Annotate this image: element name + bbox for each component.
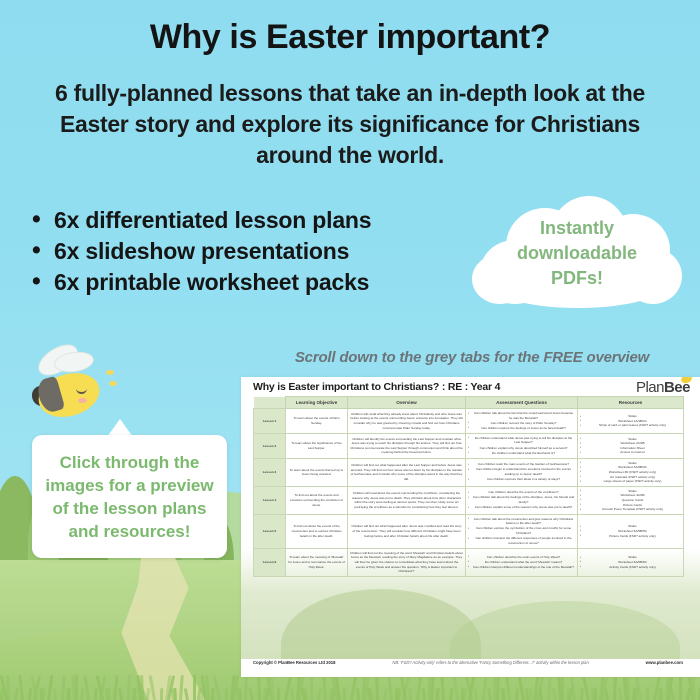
table-row: Lesson 4To find out about the events and… [254,486,684,514]
grass-blade [211,688,215,700]
grass-blade [83,675,89,700]
grass-blade [343,688,346,700]
resources-cell: SlidesWorksheet 4A/4BQuestion CardsPictu… [578,486,684,514]
assessment-question-item: Can children talk about the fact that th… [468,411,575,420]
grass-blade [356,688,360,700]
grass-blade [383,688,388,700]
grass-blade [193,675,196,700]
learning-objective-cell: To find out about the events and emotion… [286,486,348,514]
grass-blade [428,675,431,700]
grass-blade [460,688,463,700]
assessment-question-item: Do children understand what the word 'Me… [468,560,575,565]
grass-blade [449,688,453,700]
overview-cell: Children will identify the events surrou… [348,433,466,458]
grass-blade [113,675,119,700]
preview-callout[interactable]: Click through the images for a preview o… [32,435,227,558]
badge-line-1: Instantly [540,217,614,240]
lesson-number-cell: Lesson 4 [254,486,286,514]
logo-bee-icon [678,377,694,383]
resource-item: Activity Cards (FSD? activity only) [580,565,681,570]
resources-cell: SlidesWorksheet 2A/2BInformation SheetAc… [578,433,684,458]
assessment-question-item: Can children begin to understand the emo… [468,467,575,476]
grass-blade [679,675,682,700]
col-header-blank [254,397,286,409]
overview-cell: Children will find out the meaning of th… [348,548,466,576]
grass-blade [395,688,398,700]
instant-download-badge: Instantly downloadable PDFs! [472,192,682,314]
col-header-learning-objective: Learning Objective [286,397,348,409]
overview-cell: Children will recall what they already k… [348,409,466,434]
grass-blade [277,688,280,700]
overview-cell: Children will read about the events surr… [348,486,466,514]
grass-blade [387,675,393,700]
bee-sparkle [109,381,117,386]
promo-page: Why is Easter important? 6 fully-planned… [0,0,700,700]
list-item: 6x differentiated lesson plans [28,205,458,236]
assessment-question-item: Can children explain why Jesus described… [468,446,575,451]
lesson-number-cell: Lesson 6 [254,548,286,576]
bee-sparkle [106,370,114,375]
grass-blade [257,675,261,700]
grass-blade [317,688,322,700]
grass-blade [474,688,478,700]
learning-objective-cell: To learn about the events of Palm Sunday… [286,409,348,434]
feature-list: 6x differentiated lesson plans 6x slides… [28,205,458,298]
page-title: Why is Easter important? [0,18,700,57]
col-header-resources: Resources [578,397,684,409]
page-subtitle: 6 fully-planned lessons that take an in-… [24,78,676,171]
grass-blade [561,675,564,700]
resource-item: Access to internet [580,450,681,455]
grass-blade [329,688,333,700]
assessment-question-item: Can children explore the feelings of Jes… [468,426,575,431]
grass-blade [127,675,131,700]
grass-blade [160,688,163,700]
grass-blade [539,688,543,700]
assessment-question-item: Do children understand what the Eucharis… [468,451,575,456]
grass-blade [493,675,497,700]
document-footer: Copyright © PlanBee Resources Ltd 2018 N… [253,660,683,665]
footer-note: NB: 'FSD? Activity only' refers to the a… [392,660,588,665]
resource-item: Acrostic Poem Template (FSD? activity on… [580,507,681,512]
table-row: Lesson 5To find out about the events of … [254,514,684,548]
assessment-question-item: Can children interpret the different res… [468,536,575,545]
grass-blade [408,688,412,700]
resources-cell: SlidesWorksheet 5A/5B/5CPicture Cards (F… [578,514,684,548]
assessment-question-item: Can children talk about the resurrection… [468,517,575,526]
grass-blade [582,675,590,700]
assessment-question-item: Can children retell the main events of t… [468,462,575,467]
grass-blade [421,688,425,700]
assessment-question-item: Do children understand what Jesus was tr… [468,436,575,445]
assessment-questions-cell: Can children talk about the fact that th… [466,409,578,434]
grass-blade [18,675,24,700]
assessment-question-item: Can children recount the story of Palm S… [468,421,575,426]
grass-blade [375,675,379,700]
bee-icon [14,348,124,424]
grass-blade [670,688,675,700]
table-row: Lesson 2To learn about the significance … [254,433,684,458]
grass-blade [529,688,532,700]
grass-blade [146,688,150,700]
footer-copyright: Copyright © PlanBee Resources Ltd 2018 [253,660,335,665]
grass-blade [61,675,66,700]
learning-objective-cell: To learn about the meaning of 'Messiah' … [286,548,348,576]
table-header-row: Learning Objective Overview Assessment Q… [254,397,684,409]
grass-blade [183,688,188,700]
assessment-question-item: Can children describe the events of the … [468,490,575,495]
grass-blade [322,675,327,700]
badge-line-3: PDFs! [551,267,603,290]
learning-objective-cell: To learn about the events that led up to… [286,458,348,486]
grass-blade [547,675,552,700]
grass-blade [440,675,445,700]
col-header-assessment-questions: Assessment Questions [466,397,578,409]
lesson-number-cell: Lesson 3 [254,458,286,486]
badge-text: Instantly downloadable PDFs! [472,192,682,314]
callout-text: Click through the images for a preview o… [42,451,217,543]
assessment-questions-cell: Can children retell the main events of t… [466,458,578,486]
bee-blush [78,398,87,403]
table-row: Lesson 1To learn about the events of Pal… [254,409,684,434]
grass-blade [244,675,248,700]
grass-blade [310,675,313,700]
grass-blade [170,688,174,700]
list-item: 6x printable worksheet packs [28,267,458,298]
learning-objective-cell: To learn about the significance of the L… [286,433,348,458]
grass-blade [179,675,184,700]
overview-cell: Children will find out what happened aft… [348,458,466,486]
assessment-question-item: Can children talk about the feelings of … [468,495,575,504]
logo-plan-text: Plan [636,379,664,396]
grass-blade [552,688,557,700]
resources-cell: SlidesWorksheet 1A/1B/1CStrips of card o… [578,409,684,434]
resources-cell: SlidesWorksheet 3A/3B/3CWorksheet 3D (FS… [578,458,684,486]
assessment-question-item: Can children explore the symbolism of th… [468,526,575,535]
document-title: Why is Easter important to Christians? :… [253,381,500,393]
grass-blade [39,688,43,700]
footer-website: www.planbee.com [646,660,683,665]
assessment-question-item: Can children describe the main events of… [468,555,575,560]
lesson-number-cell: Lesson 2 [254,433,286,458]
assessment-questions-cell: Can children describe the main events of… [466,548,578,576]
grass-blade [225,688,228,700]
assessment-questions-cell: Do children understand what Jesus was tr… [466,433,578,458]
resource-item: Large sheets of paper (FSD? activity onl… [580,479,681,484]
document-watermark-hill-2 [450,601,680,659]
list-item: 6x slideshow presentations [28,236,458,267]
grass-blade [604,688,609,700]
grass-blade [28,688,32,700]
lesson-overview-document[interactable]: Why is Easter important to Christians? :… [241,377,700,677]
assessment-questions-cell: Can children describe the events of the … [466,486,578,514]
assessment-question-item: Can children express their ideas in a va… [468,477,575,482]
lesson-number-cell: Lesson 1 [254,409,286,434]
grass-blade [613,675,617,700]
grass-blade [487,688,492,700]
grass-blade [452,675,458,700]
grass-blade [94,688,98,700]
planbee-logo: PlanBee [636,379,690,396]
resources-cell: SlidesWorksheet 6A/6B/6CActivity Cards (… [578,548,684,576]
lesson-number-cell: Lesson 5 [254,514,286,548]
grass-blade [618,688,624,700]
grass-blade [482,675,488,700]
grass-blade [646,688,649,700]
resource-item: Strips of card or palm leaves (FSD? acti… [580,423,681,428]
table-row: Lesson 6To learn about the meaning of 'M… [254,548,684,576]
overview-cell: Children will find out what happened aft… [348,514,466,548]
grass-blade [291,688,295,700]
grass-blade [515,688,519,700]
col-header-overview: Overview [348,397,466,409]
grass-blade [580,688,584,700]
assessment-questions-cell: Can children talk about the resurrection… [466,514,578,548]
table-row: Lesson 3To learn about the events that l… [254,458,684,486]
grass-blade [505,675,511,700]
document-watermark-hill [281,589,481,659]
resource-item: Picture Cards (FSD? activity only) [580,534,681,539]
learning-objective-cell: To find out about the events of the resu… [286,514,348,548]
grass-blade [52,688,56,700]
assessment-question-item: Can children explain some of the reasons… [468,505,575,510]
grass-blade [14,688,19,700]
grass-blade [80,688,84,700]
scroll-hint: Scroll down to the grey tabs for the FRE… [252,349,692,366]
grass-blade [213,675,221,700]
lesson-plan-table: Learning Objective Overview Assessment Q… [253,396,684,577]
assessment-question-item: Can children interpret different underst… [468,565,575,570]
grass-blade [118,688,123,700]
grass-blade [249,688,255,700]
badge-line-2: downloadable [517,242,637,265]
grass-blade [105,688,109,700]
